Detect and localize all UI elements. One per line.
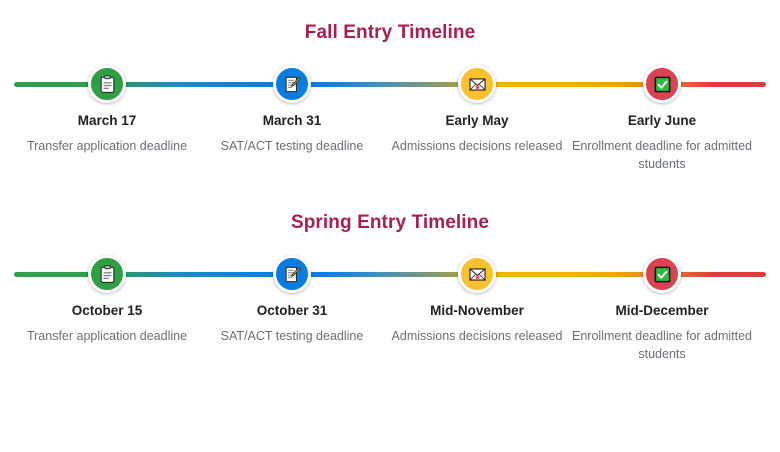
check-box-icon: [653, 75, 672, 94]
milestone-label-1: October 15 Transfer application deadline: [15, 302, 200, 345]
milestone-node-3[interactable]: [458, 255, 496, 293]
milestone-label-2: March 31 SAT/ACT testing deadline: [200, 112, 385, 155]
milestone-labels-fall: March 17 Transfer application deadline M…: [0, 112, 780, 190]
milestone-description: SAT/ACT testing deadline: [200, 327, 385, 345]
clipboard-icon: [98, 75, 117, 94]
envelope-icon: [468, 265, 487, 284]
milestone-description: Enrollment deadline for admitted student…: [570, 327, 755, 363]
timeline-title-fall: Fall Entry Timeline: [0, 22, 780, 44]
timeline-fall: Fall Entry Timeline: [0, 0, 780, 190]
timeline-track-spring: [0, 246, 780, 302]
milestone-date: March 31: [200, 112, 385, 130]
milestone-labels-spring: October 15 Transfer application deadline…: [0, 302, 780, 380]
timeline-title-spring: Spring Entry Timeline: [0, 212, 780, 234]
milestone-date: March 17: [15, 112, 200, 130]
milestone-description: Enrollment deadline for admitted student…: [570, 137, 755, 173]
milestone-label-2: October 31 SAT/ACT testing deadline: [200, 302, 385, 345]
timeline-spring: Spring Entry Timeline: [0, 190, 780, 380]
check-box-icon: [653, 265, 672, 284]
milestone-description: Transfer application deadline: [15, 327, 200, 345]
milestone-label-4: Early June Enrollment deadline for admit…: [570, 112, 755, 173]
milestone-node-1[interactable]: [88, 65, 126, 103]
milestone-node-4[interactable]: [643, 255, 681, 293]
milestone-label-3: Early May Admissions decisions released: [385, 112, 570, 155]
milestone-date: October 31: [200, 302, 385, 320]
milestone-description: Admissions decisions released: [385, 327, 570, 345]
milestone-description: Transfer application deadline: [15, 137, 200, 155]
timeline-track-fall: [0, 56, 780, 112]
milestone-description: SAT/ACT testing deadline: [200, 137, 385, 155]
milestone-node-2[interactable]: [273, 65, 311, 103]
milestone-node-2[interactable]: [273, 255, 311, 293]
memo-pencil-icon: [283, 265, 302, 284]
milestone-label-3: Mid-November Admissions decisions releas…: [385, 302, 570, 345]
milestone-node-1[interactable]: [88, 255, 126, 293]
milestone-label-4: Mid-December Enrollment deadline for adm…: [570, 302, 755, 363]
memo-pencil-icon: [283, 75, 302, 94]
milestone-date: Mid-December: [570, 302, 755, 320]
envelope-icon: [468, 75, 487, 94]
milestone-date: Mid-November: [385, 302, 570, 320]
milestone-node-4[interactable]: [643, 65, 681, 103]
milestone-node-3[interactable]: [458, 65, 496, 103]
milestone-date: Early May: [385, 112, 570, 130]
clipboard-icon: [98, 265, 117, 284]
milestone-label-1: March 17 Transfer application deadline: [15, 112, 200, 155]
milestone-date: Early June: [570, 112, 755, 130]
milestone-description: Admissions decisions released: [385, 137, 570, 155]
milestone-date: October 15: [15, 302, 200, 320]
